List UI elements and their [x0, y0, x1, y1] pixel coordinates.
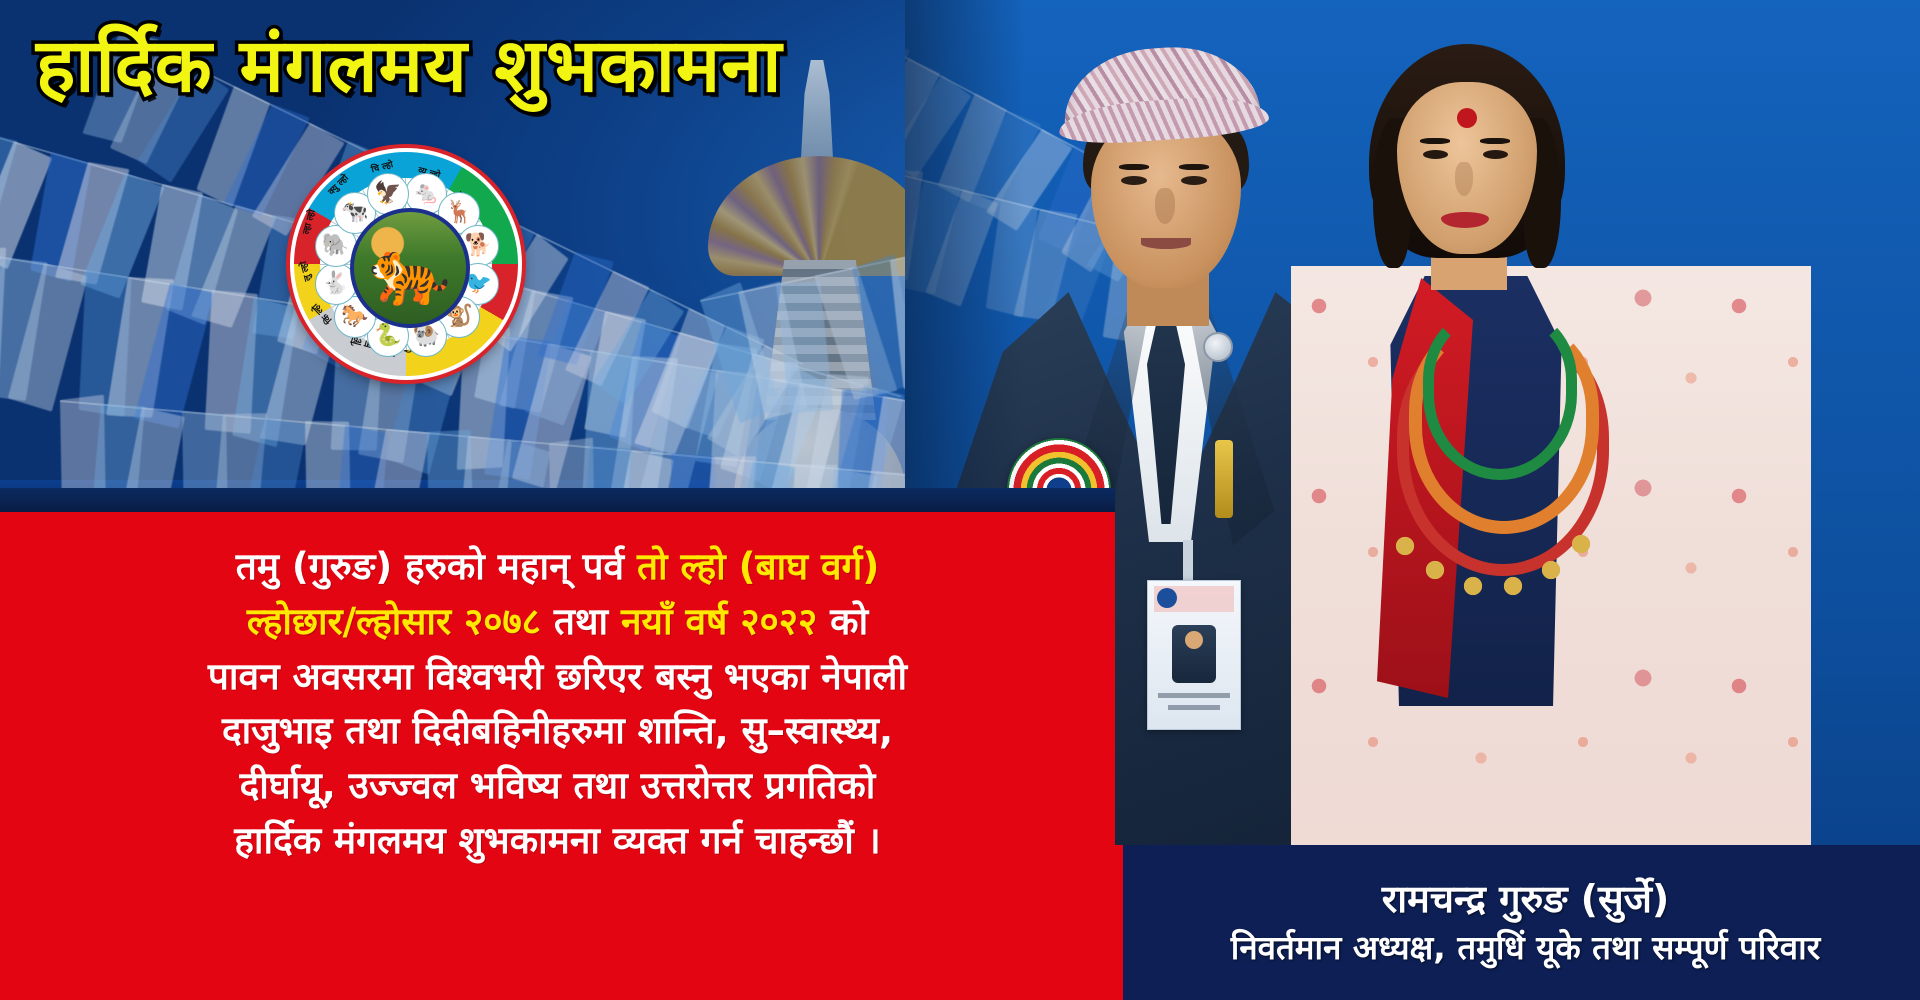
greeting-message: तमु (गुरुङ) हरुको महान् पर्व तो ल्हो (बा… [0, 540, 1115, 869]
message-text: पावन अवसरमा विश्वभरी छरिएर बस्नु भएका ने… [208, 655, 907, 698]
message-line: हार्दिक मंगलमय शुभकामना व्यक्त गर्न चाहन… [0, 814, 1115, 869]
message-line: ल्होछार/ल्होसार २०७८ तथा नयाँ वर्ष २०२२ … [0, 595, 1115, 650]
badge-text-line [1158, 693, 1230, 698]
dhaka-topi-icon [1060, 41, 1262, 146]
wheel-segment-label: लु ल्हो [296, 260, 314, 283]
man-eye-left [1121, 176, 1147, 185]
lhosar-zodiac-wheel: व्य ल्होफो ल्होसी ल्होपर्सा ल्होल्हो ल्ह… [290, 148, 522, 380]
woman-eyebrow-right [1480, 138, 1510, 144]
message-text: तमु (गुरुङ) हरुको महान् पर्व [236, 545, 637, 588]
message-text: को [830, 600, 868, 643]
coin-necklace [1391, 356, 1597, 606]
badge-photo [1172, 625, 1216, 683]
page-title: हार्दिक मंगलमय शुभकामना [36, 28, 916, 106]
greeting-poster: हार्दिक मंगलमय शुभकामना व्य ल्होफो ल्होस… [0, 0, 1920, 1000]
message-text: दीर्घायू, उज्ज्वल भविष्य तथा उत्तरोत्तर … [240, 764, 876, 807]
message-line: दीर्घायू, उज्ज्वल भविष्य तथा उत्तरोत्तर … [0, 759, 1115, 814]
pocket-pen [1215, 440, 1233, 518]
message-line: तमु (गुरुङ) हरुको महान् पर्व तो ल्हो (बा… [0, 540, 1115, 595]
man-mouth [1141, 238, 1191, 249]
woman-eye-left [1423, 150, 1448, 159]
woman-eyebrow-left [1420, 138, 1450, 144]
signatory-designation: निवर्तमान अध्यक्ष, तमुधिं यूके तथा सम्पू… [1231, 927, 1820, 968]
signature-plate: रामचन्द्र गुरुङ (सुर्जे) निवर्तमान अध्यक… [1115, 845, 1920, 1000]
message-highlight: तो ल्हो (बाघ वर्ग) [637, 545, 879, 588]
panel-top-strip [0, 488, 1115, 512]
badge-text-line [1168, 705, 1220, 710]
message-text: तथा [554, 600, 621, 643]
signatory-name: रामचन्द्र गुरुङ (सुर्जे) [1382, 877, 1670, 923]
man-eyebrow-right [1179, 164, 1209, 170]
man-nose [1155, 188, 1175, 224]
message-text: दाजुभाइ तथा दिदीबहिनीहरुमा शान्ति, सु–स्… [222, 709, 893, 752]
man-eye-right [1181, 176, 1207, 185]
tiger-icon: 🐅 [369, 239, 451, 305]
message-highlight: नयाँ वर्ष २०२२ [621, 600, 830, 643]
message-text: हार्दिक मंगलमय शुभकामना व्यक्त गर्न चाहन… [234, 819, 880, 862]
woman-nose [1455, 162, 1473, 196]
message-line: दाजुभाइ तथा दिदीबहिनीहरुमा शान्ति, सु–स्… [0, 704, 1115, 759]
tika-icon [1457, 108, 1477, 128]
message-line: पावन अवसरमा विश्वभरी छरिएर बस्नु भएका ने… [0, 650, 1115, 705]
man-eyebrow-left [1119, 164, 1149, 170]
man-lapel-pin [1203, 332, 1233, 362]
message-highlight: ल्होछार/ल्होसार २०७८ [247, 600, 554, 643]
badge-logo-icon [1157, 588, 1177, 608]
wheel-segment-label: ल्हा ल्हो [299, 208, 318, 236]
woman-eye-right [1483, 150, 1508, 159]
id-badge [1147, 580, 1241, 730]
wheel-center-tiger: 🐅 [350, 208, 470, 328]
